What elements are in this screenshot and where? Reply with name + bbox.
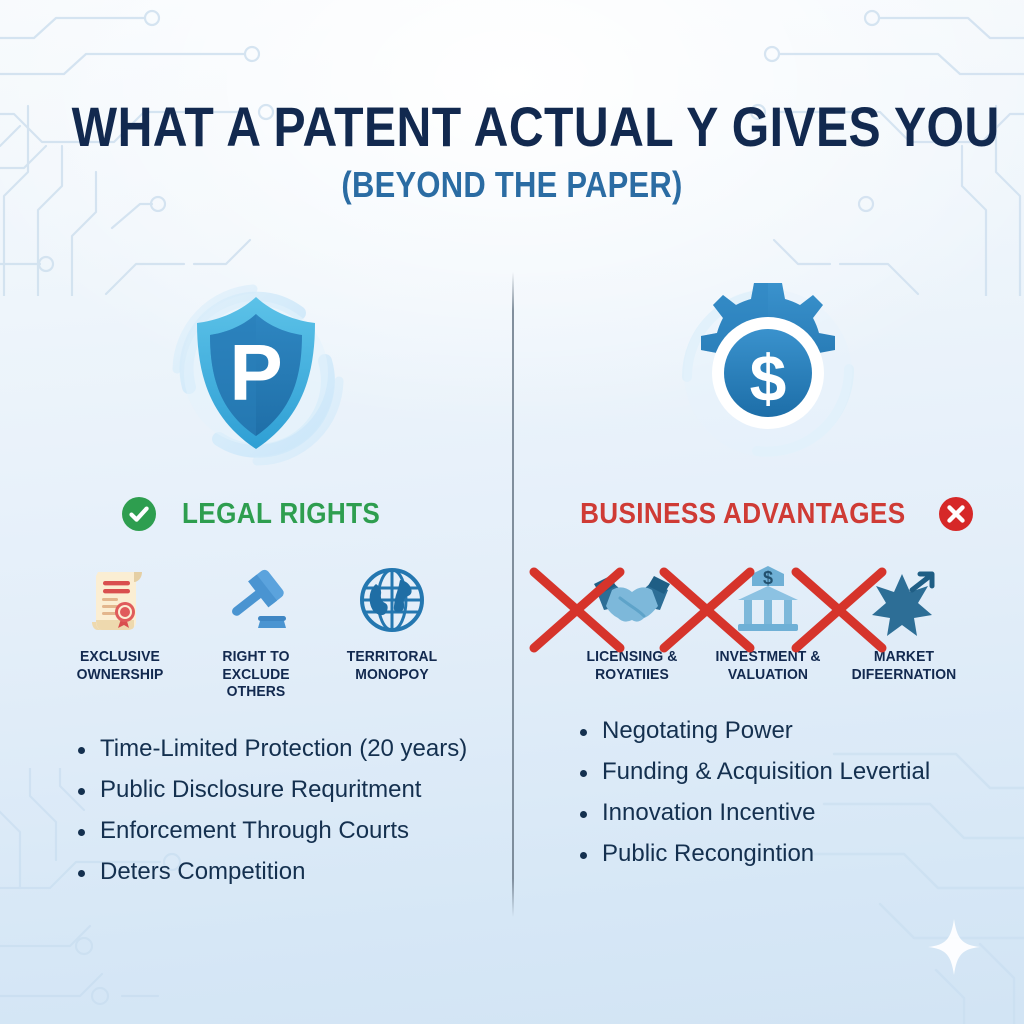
bank-dollar-icon: $ [732,564,804,636]
svg-text:$: $ [763,568,773,588]
icon-licensing-royalties: LICENSING & ROYATIIES [573,564,691,683]
list-item: Public Disclosure Requritment [78,778,512,802]
legal-bullet-list: Time-Limited Protection (20 years) Publi… [0,737,512,884]
certificate-scroll-icon [84,564,156,636]
gavel-icon [220,564,292,636]
svg-text:$: $ [750,341,787,415]
list-item: Negotating Power [580,719,1024,743]
handshake-icon [592,564,672,636]
business-advantages-label: BUSINESS ADVANTAGES [580,498,905,531]
legal-rights-label: LEGAL RIGHTS [182,498,380,531]
legal-icon-row: EXCLUSIVE OWNERSHIP RIGHT TO EXCLUDE OTH [0,564,512,701]
business-bullet-list: Negotating Power Funding & Acquisition L… [512,719,1024,866]
icon-investment-valuation: $ INVESTMENT & VALUATION [709,564,827,683]
legal-rights-column: P LEGAL RIGHTS [0,268,512,968]
icon-caption: RIGHT TO EXCLUDE OTHERS [201,648,311,701]
svg-text:P: P [229,328,282,417]
icon-territorial-monopoly: TERRITORAL MONOPOY [333,564,451,701]
icon-right-to-exclude: RIGHT TO EXCLUDE OTHERS [197,564,315,701]
icon-caption: LICENSING & ROYATIIES [577,648,687,683]
page-title: WHAT A PATENT ACTUAL Y GIVES YOU [72,98,953,156]
icon-market-differentiation: MARKET DIFEERNATION [845,564,963,683]
list-item: Public Recongintion [580,842,1024,866]
gear-with-dollar-icon: $ [512,268,1024,478]
list-item: Enforcement Through Courts [78,819,512,843]
legal-rights-header: LEGAL RIGHTS [0,486,512,542]
list-item: Time-Limited Protection (20 years) [78,737,512,761]
shield-with-p-icon: P [0,268,512,478]
infographic-canvas: WHAT A PATENT ACTUAL Y GIVES YOU (BEYOND… [0,0,1024,1024]
list-item: Innovation Incentive [580,801,1024,825]
icon-exclusive-ownership: EXCLUSIVE OWNERSHIP [61,564,179,701]
x-circle-icon [938,496,974,532]
page-subtitle: (BEYOND THE PAPER) [72,164,953,206]
list-item: Deters Competition [78,860,512,884]
list-item: Funding & Acquisition Levertial [580,760,1024,784]
check-circle-icon [121,496,157,532]
business-icon-row: LICENSING & ROYATIIES $ INVESTMENT & V [512,564,1024,683]
icon-caption: EXCLUSIVE OWNERSHIP [65,648,175,683]
star-growth-arrow-icon [868,564,940,636]
header-block: WHAT A PATENT ACTUAL Y GIVES YOU (BEYOND… [0,98,1024,206]
business-advantages-column: $ BUSINESS ADVANTAGES [512,268,1024,968]
icon-caption: MARKET DIFEERNATION [849,648,959,683]
icon-caption: INVESTMENT & VALUATION [713,648,823,683]
globe-icon [356,564,428,636]
icon-caption: TERRITORAL MONOPOY [337,648,447,683]
business-advantages-header: BUSINESS ADVANTAGES [512,486,1024,542]
